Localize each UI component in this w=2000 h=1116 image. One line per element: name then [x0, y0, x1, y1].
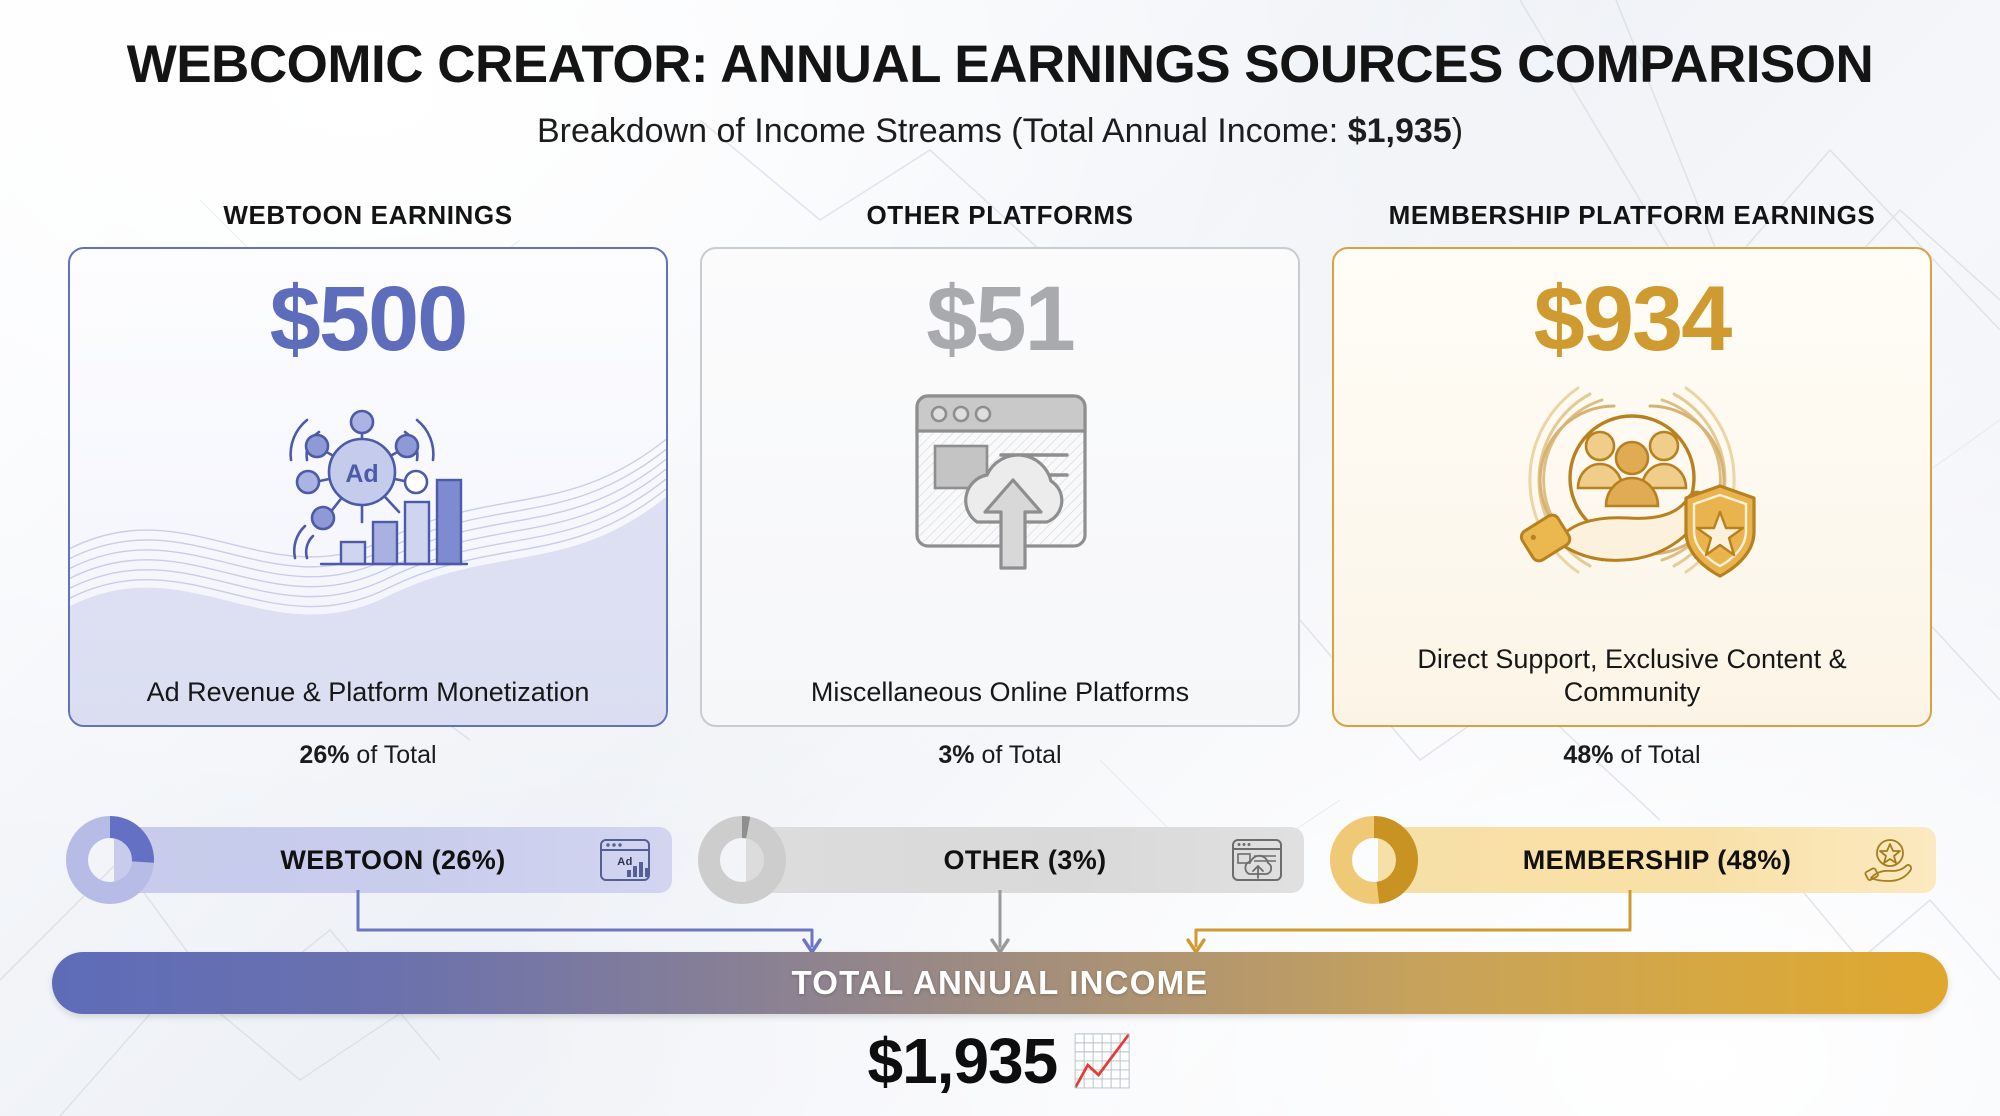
svg-text:Ad: Ad	[617, 856, 632, 868]
card-amount-webtoon: $500	[270, 271, 467, 368]
pill-label-membership: MEMBERSHIP (48%)	[1523, 845, 1791, 876]
percent-suffix-webtoon: of Total	[349, 741, 436, 769]
column-heading-other: OTHER PLATFORMS	[700, 200, 1300, 231]
total-annual-income-bar: TOTAL ANNUAL INCOME	[52, 952, 1948, 1014]
card-other[interactable]: $51 Miscellaneous Onli	[700, 247, 1300, 727]
pill-other[interactable]: OTHER (3%)	[746, 827, 1304, 893]
grand-total-value: $1,935	[867, 1024, 1057, 1098]
pill-label-other: OTHER (3%)	[943, 845, 1106, 876]
percent-value-other: 3%	[938, 741, 974, 769]
card-percent-webtoon: 26% of Total	[68, 741, 668, 770]
subtitle-total-value: $1,935	[1348, 112, 1452, 150]
column-membership: MEMBERSHIP PLATFORM EARNINGS $934	[1332, 200, 1932, 770]
card-amount-membership: $934	[1534, 271, 1731, 368]
column-webtoon: WEBTOON EARNINGS $500	[68, 200, 668, 770]
card-membership[interactable]: $934	[1332, 247, 1932, 727]
chart-increasing-icon: 📈	[1071, 1032, 1132, 1091]
ad-browser-icon: Ad	[598, 837, 652, 883]
grand-total: $1,935 📈	[0, 1024, 2000, 1098]
percent-suffix-membership: of Total	[1613, 741, 1700, 769]
browser-cloud-icon	[1230, 837, 1284, 883]
card-webtoon[interactable]: $500	[68, 247, 668, 727]
card-caption-membership: Direct Support, Exclusive Content & Comm…	[1334, 643, 1930, 709]
donut-webtoon	[62, 812, 158, 908]
donut-other	[694, 812, 790, 908]
svg-text:Ad: Ad	[345, 460, 378, 488]
card-percent-other: 3% of Total	[700, 741, 1300, 770]
pill-membership[interactable]: MEMBERSHIP (48%)	[1378, 827, 1936, 893]
browser-cloud-upload-icon	[885, 372, 1115, 584]
percent-suffix-other: of Total	[975, 741, 1062, 769]
page-title: WEBCOMIC CREATOR: ANNUAL EARNINGS SOURCE…	[0, 34, 2000, 95]
hand-community-shield-icon	[1482, 372, 1782, 590]
percent-value-membership: 48%	[1563, 741, 1613, 769]
column-heading-webtoon: WEBTOON EARNINGS	[68, 200, 668, 231]
hand-star-icon	[1864, 836, 1916, 884]
page-subtitle: Breakdown of Income Streams (Total Annua…	[0, 112, 2000, 151]
subtitle-suffix: )	[1452, 112, 1463, 150]
percent-value-webtoon: 26%	[299, 741, 349, 769]
card-amount-other: $51	[926, 271, 1074, 368]
total-bar-label: TOTAL ANNUAL INCOME	[792, 964, 1209, 1002]
infographic-canvas: WEBCOMIC CREATOR: ANNUAL EARNINGS SOURCE…	[0, 0, 2000, 1116]
ad-network-barchart-icon: Ad	[253, 372, 483, 582]
column-heading-membership: MEMBERSHIP PLATFORM EARNINGS	[1332, 200, 1932, 231]
card-caption-webtoon: Ad Revenue & Platform Monetization	[70, 676, 666, 709]
pill-webtoon[interactable]: WEBTOON (26%) Ad	[114, 827, 672, 893]
card-percent-membership: 48% of Total	[1332, 741, 1932, 770]
column-other: OTHER PLATFORMS $51	[700, 200, 1300, 770]
pill-label-webtoon: WEBTOON (26%)	[280, 845, 505, 876]
donut-membership	[1326, 812, 1422, 908]
subtitle-prefix: Breakdown of Income Streams (Total Annua…	[537, 112, 1348, 150]
card-caption-other: Miscellaneous Online Platforms	[702, 676, 1298, 709]
